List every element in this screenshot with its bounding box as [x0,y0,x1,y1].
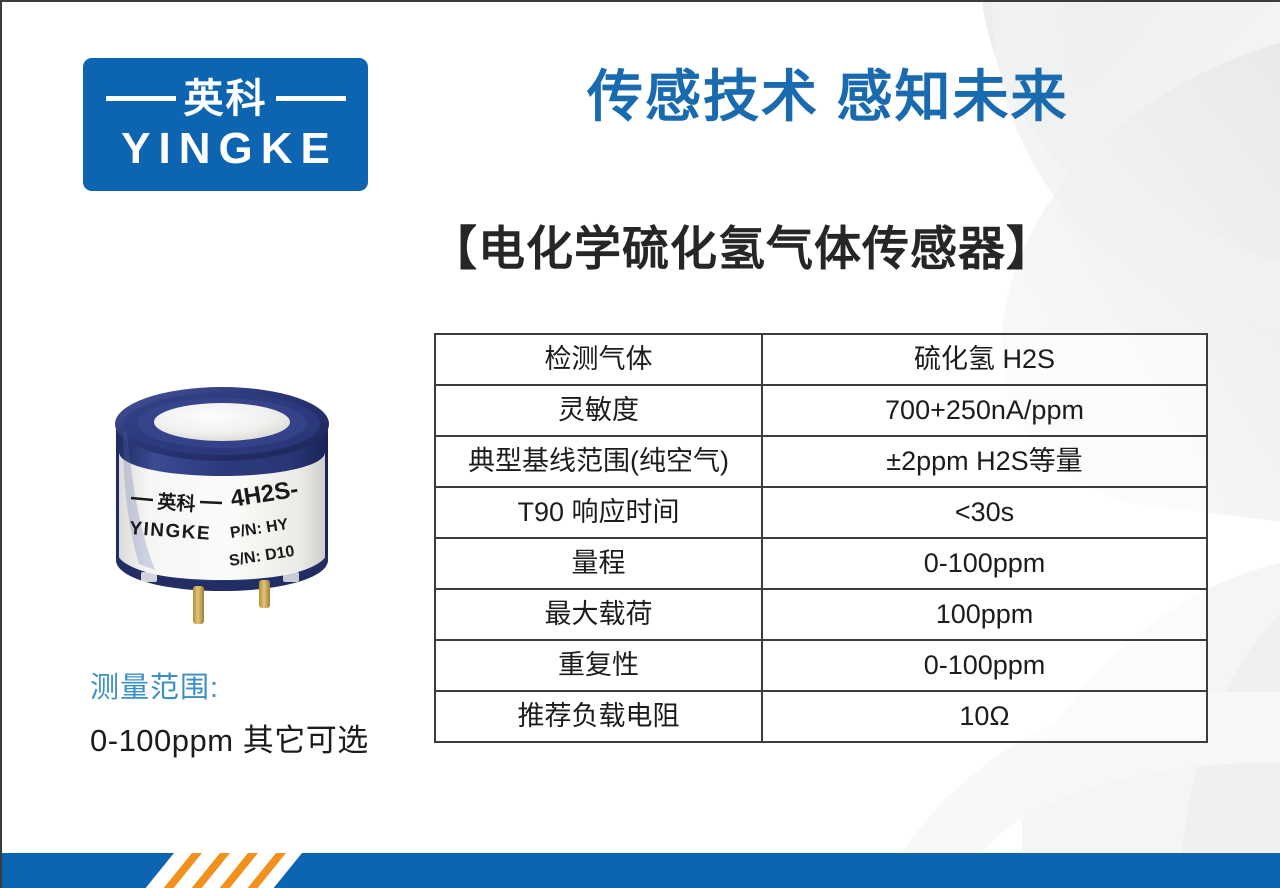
sensor-pin [193,586,204,624]
table-row: 最大载荷 100ppm [435,589,1207,640]
sensor-product-photo: 英科 YINGKE 4H2S- P/N: HY S/N: D10 [97,374,347,629]
table-row: T90 响应时间 <30s [435,487,1207,538]
logo-dash-left-icon [106,96,176,101]
spec-value: 700+250nA/ppm [762,385,1207,436]
spec-key: 推荐负载电阻 [435,691,762,742]
table-row: 量程 0-100ppm [435,538,1207,589]
spec-key: 量程 [435,538,762,589]
spec-key: 典型基线范围(纯空气) [435,436,762,487]
spec-key: 检测气体 [435,334,762,385]
table-row: 推荐负载电阻 10Ω [435,691,1207,742]
company-slogan: 传感技术 感知未来 [587,64,1069,130]
logo-chinese-name: 英科 [184,79,268,119]
poster-canvas: 英科 YINGKE 传感技术 感知未来 【电化学硫化氢气体传感器】 检测气体 硫… [0,0,1280,888]
sensor-pin [259,580,270,608]
logo-dash-right-icon [276,96,346,101]
specification-table-body: 检测气体 硫化氢 H2S 灵敏度 700+250nA/ppm 典型基线范围(纯空… [435,334,1207,742]
spec-value: <30s [762,487,1207,538]
bottom-banner [2,853,1280,888]
spec-value: 0-100ppm [762,640,1207,691]
table-row: 灵敏度 700+250nA/ppm [435,385,1207,436]
spec-key: T90 响应时间 [435,487,762,538]
spec-value: 硫化氢 H2S [762,334,1207,385]
spec-value: 0-100ppm [762,538,1207,589]
table-row: 重复性 0-100ppm [435,640,1207,691]
page-title: 【电化学硫化氢气体传感器】 [430,218,1054,279]
spec-key: 重复性 [435,640,762,691]
spec-key: 最大载荷 [435,589,762,640]
spec-key: 灵敏度 [435,385,762,436]
specification-table: 检测气体 硫化氢 H2S 灵敏度 700+250nA/ppm 典型基线范围(纯空… [434,333,1208,743]
spec-value: 10Ω [762,691,1207,742]
measurement-range-value: 0-100ppm 其它可选 [90,715,369,760]
svg-text:英科: 英科 [157,490,197,516]
brand-logo: 英科 YINGKE [83,58,368,191]
table-row: 检测气体 硫化氢 H2S [435,334,1207,385]
spec-value: ±2ppm H2S等量 [762,436,1207,487]
logo-english-name: YINGKE [113,127,338,171]
measurement-range-label: 测量范围: [90,664,219,706]
logo-chinese-row: 英科 [83,79,368,119]
sensor-membrane [154,403,290,441]
spec-value: 100ppm [762,589,1207,640]
table-row: 典型基线范围(纯空气) ±2ppm H2S等量 [435,436,1207,487]
